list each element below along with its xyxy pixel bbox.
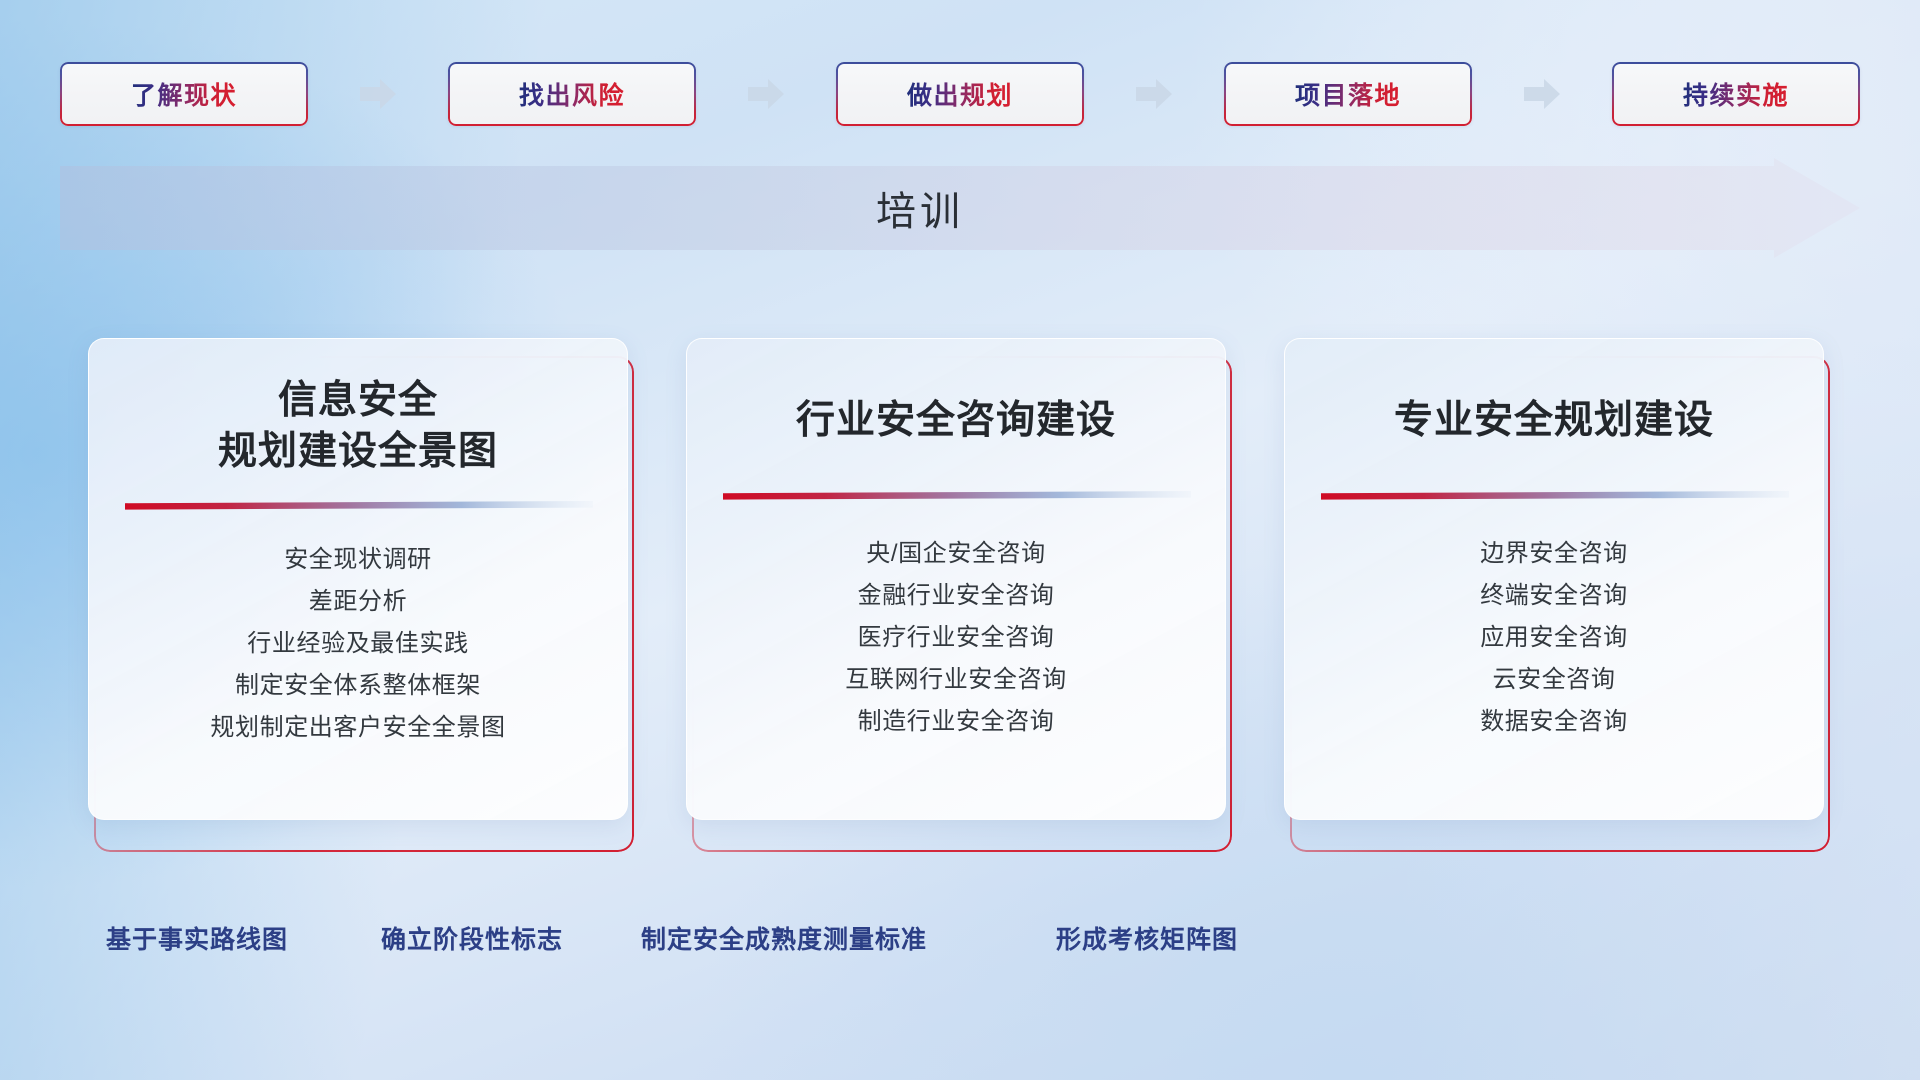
- training-banner: 培训: [60, 158, 1860, 258]
- list-item[interactable]: 行业经验及最佳实践: [247, 623, 468, 665]
- bottom-labels-row: 基于事实路线图确立阶段性标志制定安全成熟度测量标准形成考核矩阵图: [0, 920, 1920, 966]
- step-box-4[interactable]: 项目落地: [1224, 62, 1472, 126]
- step-label: 做出规划: [907, 76, 1013, 112]
- card-item-list: 央/国企安全咨询金融行业安全咨询医疗行业安全咨询互联网行业安全咨询制造行业安全咨…: [687, 533, 1225, 743]
- arrow-right-icon: [746, 77, 786, 111]
- arrow-right-icon: [1134, 77, 1174, 111]
- bottom-label-3: 制定安全成熟度测量标准: [641, 920, 927, 956]
- step-label: 持续实施: [1683, 76, 1789, 112]
- card-item-list: 边界安全咨询终端安全咨询应用安全咨询云安全咨询数据安全咨询: [1285, 533, 1823, 743]
- step-box-1[interactable]: 了解现状: [60, 62, 308, 126]
- step-box-5[interactable]: 持续实施: [1612, 62, 1860, 126]
- bottom-label-1: 基于事实路线图: [106, 920, 288, 956]
- list-item[interactable]: 边界安全咨询: [1480, 533, 1628, 575]
- list-item[interactable]: 应用安全咨询: [1480, 617, 1628, 659]
- process-steps-row: 了解现状找出风险做出规划项目落地持续实施: [60, 62, 1860, 126]
- bottom-label-4: 形成考核矩阵图: [1056, 920, 1238, 956]
- list-item[interactable]: 差距分析: [309, 581, 407, 623]
- arrow-right-icon: [1522, 77, 1562, 111]
- banner-title: 培训: [60, 158, 1860, 258]
- list-item[interactable]: 终端安全咨询: [1480, 575, 1628, 617]
- step-label: 项目落地: [1295, 76, 1401, 112]
- list-item[interactable]: 数据安全咨询: [1480, 701, 1628, 743]
- list-item[interactable]: 云安全咨询: [1493, 659, 1616, 701]
- list-item[interactable]: 制定安全体系整体框架: [235, 665, 481, 707]
- card-title: 信息安全 规划建设全景图: [218, 375, 498, 478]
- list-item[interactable]: 规划制定出客户安全全景图: [210, 707, 505, 749]
- list-item[interactable]: 医疗行业安全咨询: [858, 617, 1055, 659]
- step-box-3[interactable]: 做出规划: [836, 62, 1084, 126]
- card-3: 专业安全规划建设边界安全咨询终端安全咨询应用安全咨询云安全咨询数据安全咨询: [1284, 338, 1832, 840]
- bottom-label-2: 确立阶段性标志: [381, 920, 563, 956]
- step-box-2[interactable]: 找出风险: [448, 62, 696, 126]
- arrow-right-icon: [358, 77, 398, 111]
- card-1: 信息安全 规划建设全景图安全现状调研差距分析行业经验及最佳实践制定安全体系整体框…: [88, 338, 636, 840]
- card-divider: [723, 487, 1191, 496]
- list-item[interactable]: 互联网行业安全咨询: [845, 659, 1066, 701]
- card-body[interactable]: 信息安全 规划建设全景图安全现状调研差距分析行业经验及最佳实践制定安全体系整体框…: [88, 338, 628, 820]
- step-label: 了解现状: [131, 76, 237, 112]
- card-divider: [1321, 487, 1789, 496]
- card-title: 专业安全规划建设: [1394, 395, 1714, 446]
- card-divider: [125, 497, 593, 506]
- card-item-list: 安全现状调研差距分析行业经验及最佳实践制定安全体系整体框架规划制定出客户安全全景…: [89, 539, 627, 749]
- list-item[interactable]: 安全现状调研: [284, 539, 432, 581]
- card-title: 行业安全咨询建设: [796, 395, 1116, 446]
- step-label: 找出风险: [519, 76, 625, 112]
- card-body[interactable]: 专业安全规划建设边界安全咨询终端安全咨询应用安全咨询云安全咨询数据安全咨询: [1284, 338, 1824, 820]
- card-body[interactable]: 行业安全咨询建设央/国企安全咨询金融行业安全咨询医疗行业安全咨询互联网行业安全咨…: [686, 338, 1226, 820]
- list-item[interactable]: 金融行业安全咨询: [858, 575, 1055, 617]
- cards-row: 信息安全 规划建设全景图安全现状调研差距分析行业经验及最佳实践制定安全体系整体框…: [88, 338, 1832, 840]
- list-item[interactable]: 制造行业安全咨询: [858, 701, 1055, 743]
- list-item[interactable]: 央/国企安全咨询: [866, 533, 1045, 575]
- card-2: 行业安全咨询建设央/国企安全咨询金融行业安全咨询医疗行业安全咨询互联网行业安全咨…: [686, 338, 1234, 840]
